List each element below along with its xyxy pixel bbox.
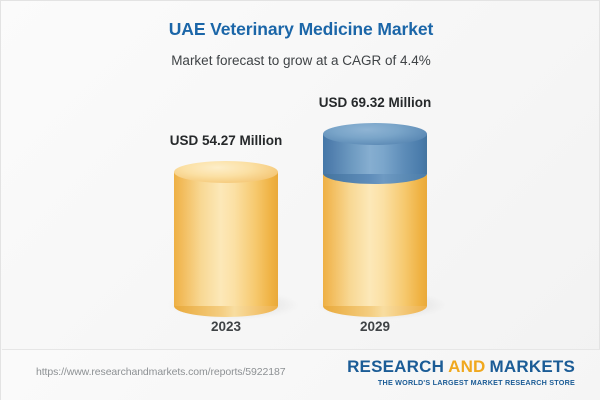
chart-image-frame: UAE Veterinary Medicine Market Market fo… [0, 0, 600, 400]
bar-2023-value-label: USD 54.27 Million [116, 133, 336, 148]
logo-word-research: RESEARCH [347, 357, 444, 376]
report-url[interactable]: https://www.researchandmarkets.com/repor… [36, 366, 285, 378]
logo-wordmark: RESEARCHANDMARKETS [347, 358, 575, 376]
logo-word-and: AND [448, 357, 485, 376]
bar-2023-top-cap [174, 161, 278, 183]
bar-2023-body [174, 172, 278, 306]
logo-tagline: THE WORLD'S LARGEST MARKET RESEARCH STOR… [347, 378, 575, 387]
bar-2029-segment-base [323, 173, 427, 306]
bar-2029-top-cap [323, 123, 427, 145]
chart-plot-area: USD 54.27 Million 2023 USD 69.32 Million… [1, 1, 600, 349]
footer: https://www.researchandmarkets.com/repor… [1, 350, 600, 400]
bar-2029-value-label: USD 69.32 Million [265, 95, 485, 110]
logo-word-markets: MARKETS [490, 357, 575, 376]
bar-2029-category-label: 2029 [265, 319, 485, 334]
research-and-markets-logo[interactable]: RESEARCHANDMARKETS THE WORLD'S LARGEST M… [347, 358, 575, 387]
